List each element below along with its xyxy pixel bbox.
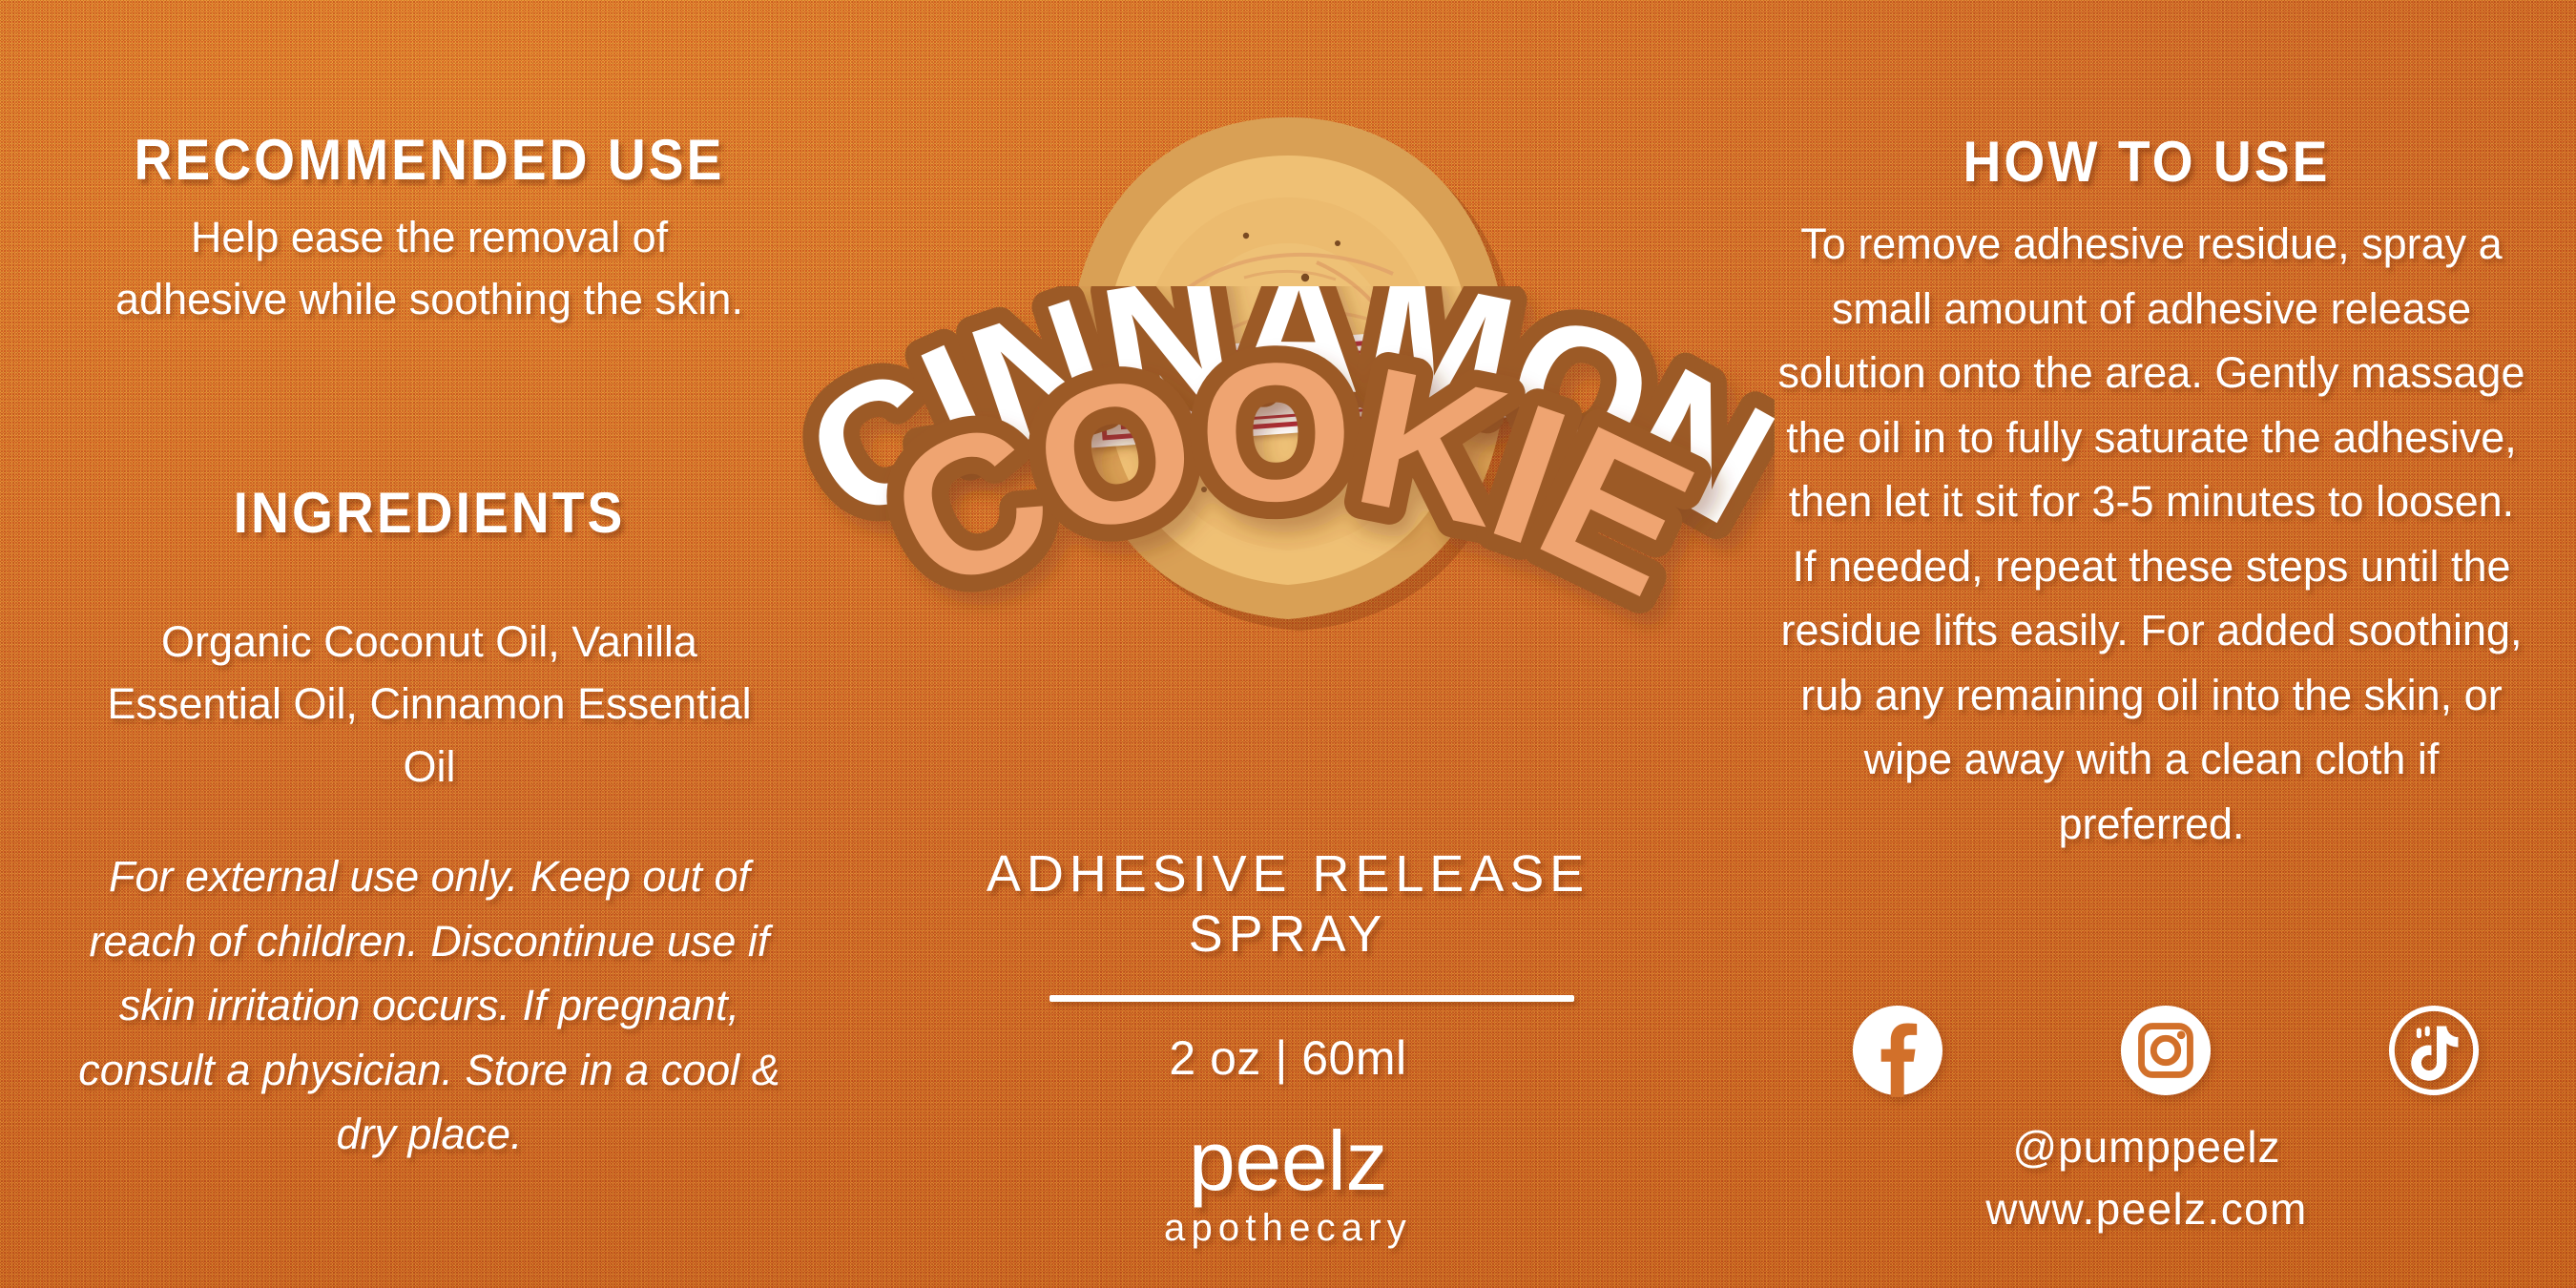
ingredients-body: Organic Coconut Oil, Vanilla Essential O…	[86, 611, 773, 798]
center-brand-column: LIMITED EDITION CINNAMON CINNAMON	[811, 0, 1765, 1288]
how-to-use-heading: HOW TO USE	[1752, 134, 2542, 191]
tiktok-icon[interactable]	[2387, 1004, 2481, 1097]
brand-logo: peelz apothecary	[811, 1121, 1765, 1250]
warning-body: For external use only. Keep out of reach…	[76, 844, 782, 1167]
brand-name: peelz	[811, 1121, 1765, 1201]
product-name: ADHESIVE RELEASE SPRAY	[811, 844, 1765, 964]
recommended-use-body: Help ease the removal of adhesive while …	[105, 206, 754, 331]
social-handle[interactable]: @pumppeelz	[1717, 1121, 2576, 1173]
volume-text: 2 oz | 60ml	[811, 1030, 1765, 1086]
recommended-use-heading: RECOMMENDED USE	[34, 132, 824, 189]
left-info-column: RECOMMENDED USE Help ease the removal of…	[0, 0, 859, 1288]
how-to-use-body: To remove adhesive residue, spray a smal…	[1775, 212, 2528, 856]
ingredients-heading: INGREDIENTS	[34, 485, 824, 542]
cinnamon-cookie-wordmark: CINNAMON CINNAMON COOKIE COOKIE	[801, 286, 1775, 687]
product-label: RECOMMENDED USE Help ease the removal of…	[0, 0, 2576, 1288]
facebook-icon[interactable]	[1851, 1004, 1944, 1097]
divider-line	[1049, 995, 1574, 1002]
right-info-column: HOW TO USE To remove adhesive residue, s…	[1717, 0, 2576, 1288]
product-name-line2: SPRAY	[811, 904, 1765, 965]
website-url[interactable]: www.peelz.com	[1717, 1183, 2576, 1235]
product-name-line1: ADHESIVE RELEASE	[811, 844, 1765, 904]
brand-tagline: apothecary	[811, 1207, 1765, 1250]
social-links-row	[1851, 1004, 2481, 1097]
instagram-icon[interactable]	[2119, 1004, 2212, 1097]
